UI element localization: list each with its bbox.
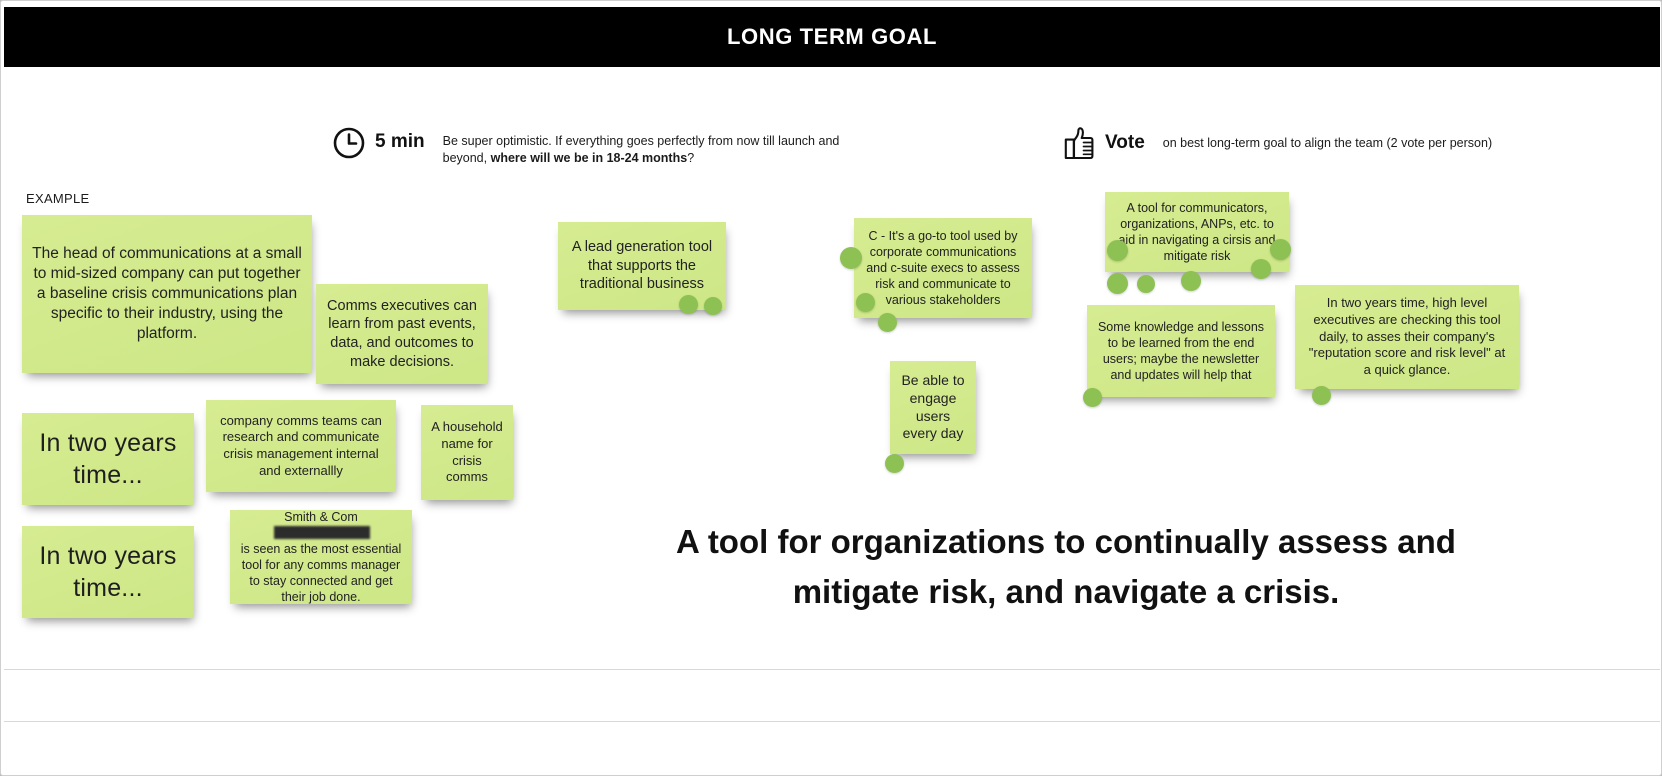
sticky-note-two-years-2[interactable]: In two years time... xyxy=(22,526,194,618)
sticky-note-text: In two years time, high level executives… xyxy=(1305,295,1509,378)
sticky-note-text: Some knowledge and lessons to be learned… xyxy=(1097,319,1265,383)
sticky-note-go-to-tool[interactable]: C - It's a go-to tool used by corporate … xyxy=(854,218,1032,318)
timer-text-after: ? xyxy=(687,151,694,165)
sticky-note-text: In two years time... xyxy=(32,540,184,604)
whiteboard-canvas: LONG TERM GOAL 5 min Be super optimistic… xyxy=(0,0,1662,776)
timer-label: 5 min xyxy=(375,125,425,159)
vote-dot[interactable] xyxy=(1251,259,1271,279)
sticky-note-text: The head of communications at a small to… xyxy=(32,244,302,343)
sticky-note-high-level[interactable]: In two years time, high level executives… xyxy=(1295,285,1519,389)
sticky-note-household[interactable]: A household name for crisis comms xyxy=(421,405,513,500)
vote-dot[interactable] xyxy=(679,295,698,314)
headline-statement: A tool for organizations to continually … xyxy=(601,517,1531,617)
board-header: LONG TERM GOAL xyxy=(4,7,1660,67)
vote-dot[interactable] xyxy=(885,454,904,473)
sticky-note-smith[interactable]: Smith & Com is seen as the most essentia… xyxy=(230,510,412,604)
headline-line-2: mitigate risk, and navigate a crisis. xyxy=(601,567,1531,617)
vote-dot[interactable] xyxy=(1270,239,1291,260)
instruction-vote: Vote on best long-term goal to align the… xyxy=(1061,125,1492,161)
divider-lower xyxy=(4,721,1660,722)
sticky-note-lead-gen[interactable]: A lead generation tool that supports the… xyxy=(558,222,726,310)
redaction-bar xyxy=(274,526,370,539)
page-title: LONG TERM GOAL xyxy=(727,24,937,50)
sticky-note-text: Smith & Com is seen as the most essentia… xyxy=(240,509,402,605)
sticky-note-text: company comms teams can research and com… xyxy=(216,413,386,480)
instruction-timer: 5 min Be super optimistic. If everything… xyxy=(331,125,863,167)
sticky-note-text: Be able to engage users every day xyxy=(900,372,966,444)
sticky-note-company-teams[interactable]: company comms teams can research and com… xyxy=(206,400,396,492)
sticky-note-text: A household name for crisis comms xyxy=(431,419,503,486)
timer-description: Be super optimistic. If everything goes … xyxy=(443,125,863,167)
vote-dot[interactable] xyxy=(1181,271,1201,291)
vote-dot[interactable] xyxy=(1107,273,1128,294)
vote-dot[interactable] xyxy=(1137,275,1155,293)
sticky-note-some-knowledge[interactable]: Some knowledge and lessons to be learned… xyxy=(1087,305,1275,397)
thumbs-up-icon xyxy=(1061,125,1097,161)
clock-icon xyxy=(331,125,367,161)
example-label: EXAMPLE xyxy=(26,191,90,206)
vote-description: on best long-term goal to align the team… xyxy=(1163,125,1492,152)
vote-dot[interactable] xyxy=(1083,388,1102,407)
sticky-note-text: A tool for communicators, organizations,… xyxy=(1115,200,1279,264)
smith-suffix: is seen as the most essential tool for a… xyxy=(240,541,402,605)
headline-line-1: A tool for organizations to continually … xyxy=(601,517,1531,567)
vote-dot[interactable] xyxy=(878,313,897,332)
sticky-note-comms-execs[interactable]: Comms executives can learn from past eve… xyxy=(316,284,488,384)
smith-prefix: Smith & Com xyxy=(240,509,402,525)
sticky-note-text: Comms executives can learn from past eve… xyxy=(326,297,478,371)
divider-upper xyxy=(4,669,1660,670)
sticky-note-text: A lead generation tool that supports the… xyxy=(568,238,716,294)
sticky-note-two-years-1[interactable]: In two years time... xyxy=(22,413,194,505)
vote-dot[interactable] xyxy=(1107,240,1128,261)
vote-dot[interactable] xyxy=(1312,386,1331,405)
vote-dot[interactable] xyxy=(840,247,862,269)
sticky-note-engage-daily[interactable]: Be able to engage users every day xyxy=(890,361,976,454)
vote-dot[interactable] xyxy=(704,297,722,315)
timer-text-bold: where will we be in 18-24 months xyxy=(491,151,688,165)
sticky-note-example[interactable]: The head of communications at a small to… xyxy=(22,215,312,373)
sticky-note-text: C - It's a go-to tool used by corporate … xyxy=(864,228,1022,308)
vote-dot[interactable] xyxy=(856,293,875,312)
vote-label: Vote xyxy=(1105,125,1145,161)
sticky-note-text: In two years time... xyxy=(32,427,184,491)
